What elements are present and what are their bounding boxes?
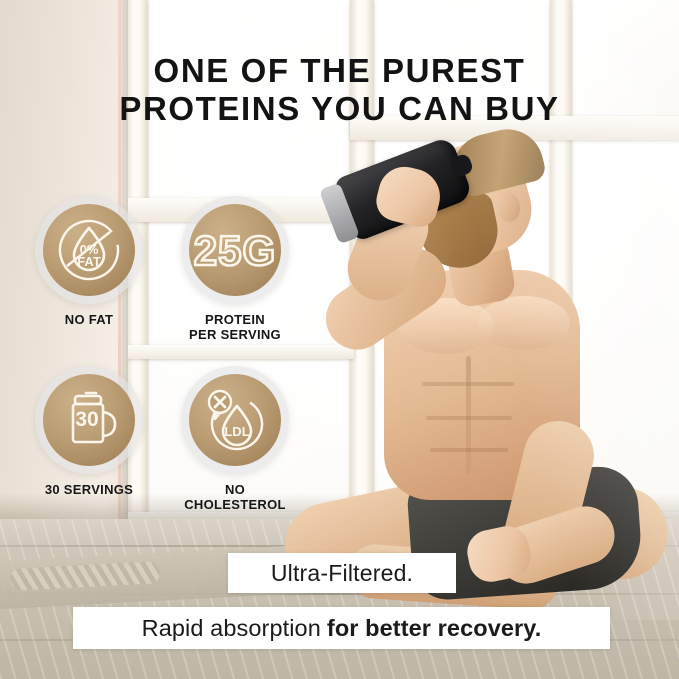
badge-row: 30 30 SERVINGS LDL bbox=[22, 366, 302, 512]
badge-label-line-1: 30 SERVINGS bbox=[45, 483, 133, 498]
badge-label-line-2: CHOLESTEROL bbox=[184, 498, 286, 513]
callout-ultra-filtered-text: Ultra-Filtered. bbox=[271, 560, 413, 587]
badge-inner: 0% FAT bbox=[43, 204, 135, 296]
badge-no-cholesterol[interactable]: LDL NO CHOLESTEROL bbox=[168, 366, 302, 512]
product-marketing-image: ONE OF THE PUREST PROTEINS YOU CAN BUY 0… bbox=[0, 0, 679, 679]
callout-rapid-light-text: Rapid absorption bbox=[142, 615, 321, 642]
chest-highlight-right bbox=[478, 296, 570, 350]
badge-inner: 25G bbox=[189, 204, 281, 296]
bottle-cap-icon bbox=[319, 182, 360, 244]
abdominal-crease bbox=[430, 448, 508, 452]
headline-line-1: ONE OF THE PUREST bbox=[154, 52, 526, 89]
headline: ONE OF THE PUREST PROTEINS YOU CAN BUY bbox=[0, 52, 679, 128]
badge-icon-text: FAT bbox=[77, 254, 101, 269]
callout-rapid-absorption: Rapid absorption for better recovery. bbox=[73, 607, 610, 649]
badge-servings[interactable]: 30 30 SERVINGS bbox=[22, 366, 156, 512]
no-ldl-droplet-icon: LDL bbox=[199, 384, 271, 456]
badge-label-line-1: NO FAT bbox=[65, 313, 114, 328]
headline-line-2: PROTEINS YOU CAN BUY bbox=[0, 90, 679, 128]
badge-label: PROTEIN PER SERVING bbox=[189, 313, 281, 342]
model-drinking-shake bbox=[300, 120, 679, 620]
badge-inner: 30 bbox=[43, 374, 135, 466]
badge-disc: 0% FAT bbox=[35, 196, 143, 304]
badge-disc: 25G bbox=[181, 196, 289, 304]
badge-disc: 30 bbox=[35, 366, 143, 474]
abdominal-crease bbox=[422, 382, 514, 386]
badge-label-line-1: PROTEIN bbox=[189, 313, 281, 328]
badge-no-fat[interactable]: 0% FAT NO FAT bbox=[22, 196, 156, 342]
abdominal-crease bbox=[426, 416, 512, 420]
badge-icon-text: 25G bbox=[194, 227, 276, 274]
no-fat-droplet-icon: 0% FAT bbox=[53, 214, 125, 286]
badge-label: NO FAT bbox=[65, 313, 114, 328]
shaker-cup-icon: 30 bbox=[53, 384, 125, 456]
callout-ultra-filtered: Ultra-Filtered. bbox=[228, 553, 456, 593]
badge-row: 0% FAT NO FAT 25G bbox=[22, 196, 302, 342]
badge-protein-per-serving[interactable]: 25G PROTEIN PER SERVING bbox=[168, 196, 302, 342]
badge-inner: LDL bbox=[189, 374, 281, 466]
callout-rapid-bold-text: for better recovery. bbox=[327, 615, 541, 642]
badge-label-line-2: PER SERVING bbox=[189, 328, 281, 343]
badge-label-line-1: NO bbox=[184, 483, 286, 498]
badge-icon-text: 30 bbox=[75, 408, 98, 431]
badge-disc: LDL bbox=[181, 366, 289, 474]
badge-label: 30 SERVINGS bbox=[45, 483, 133, 498]
badge-label: NO CHOLESTEROL bbox=[184, 483, 286, 512]
badge-icon-text: LDL bbox=[224, 424, 249, 439]
benefit-badge-grid: 0% FAT NO FAT 25G bbox=[22, 196, 302, 512]
grams-outline-icon: 25G bbox=[193, 220, 277, 280]
abdominal-midline bbox=[466, 356, 471, 474]
